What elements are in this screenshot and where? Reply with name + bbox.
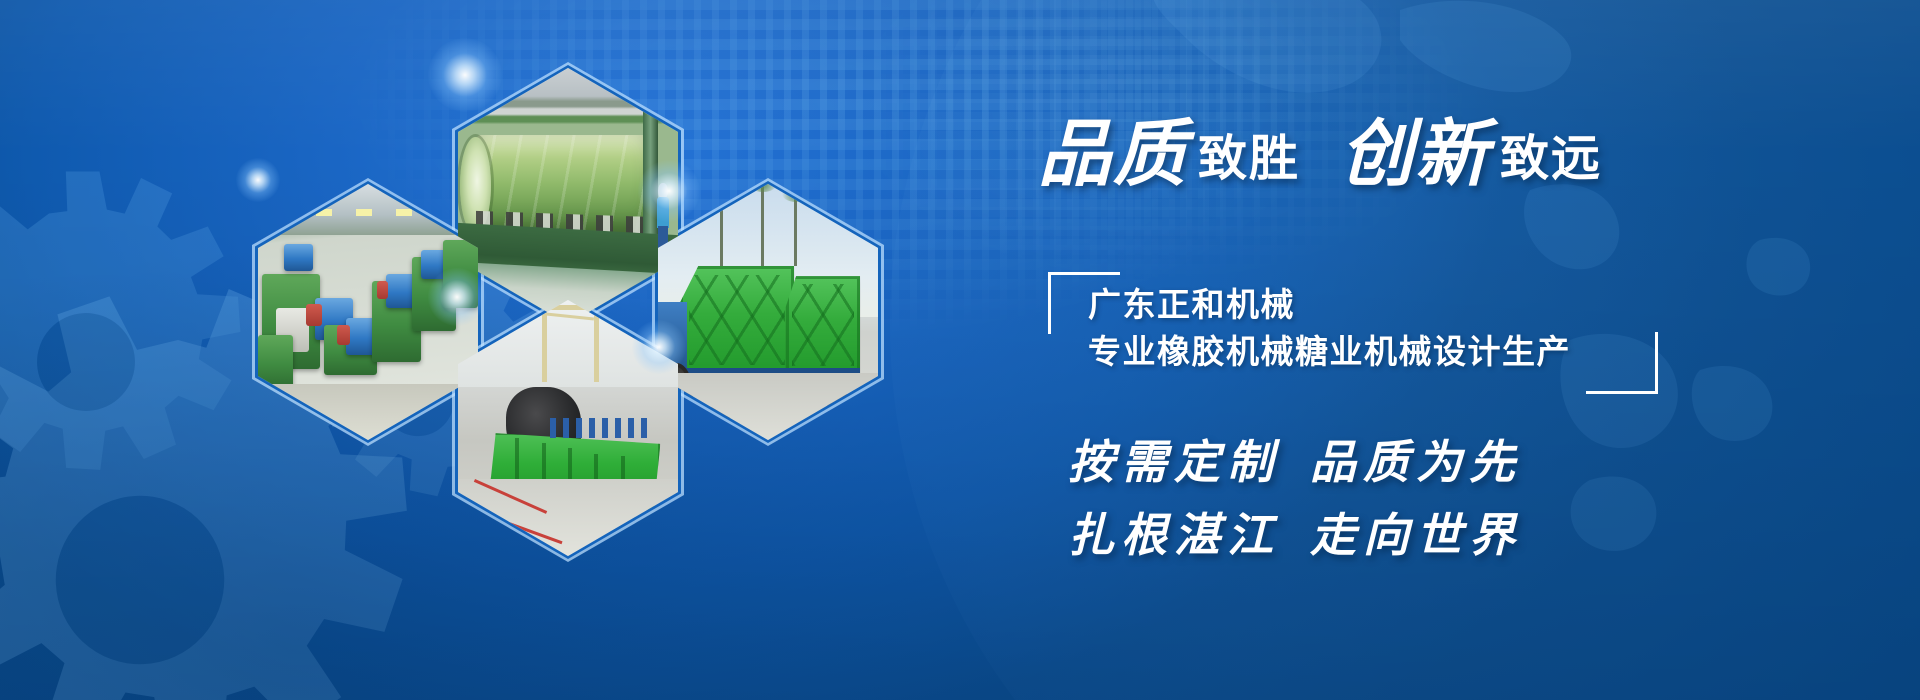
glow-accent-left-top [236, 158, 280, 202]
slogan-2-left: 扎根湛江 [1068, 508, 1280, 562]
slogan-1-left: 按需定制 [1068, 435, 1280, 489]
slogan-1-right: 品质为先 [1310, 435, 1522, 489]
subtitle-line-1: 广东正和机械 [1088, 282, 1571, 329]
glow-accent-top-left [428, 38, 502, 112]
slogan-row-1: 按需定制品质为先 [1068, 426, 1522, 499]
subtitle-line-2: 专业橡胶机械糖业机械设计生产 [1088, 329, 1571, 376]
bracket-bottom-right-icon [1586, 332, 1658, 394]
headline-part1-small: 致胜 [1198, 132, 1300, 186]
banner-copy-block: 品质致胜创新致远 广东正和机械 专业橡胶机械糖业机械设计生产 按需定制品质为先 … [1020, 96, 1860, 636]
headline: 品质致胜创新致远 [1038, 118, 1608, 191]
hexagon-photo-cluster [0, 0, 900, 700]
promo-banner: 品质致胜创新致远 广东正和机械 专业橡胶机械糖业机械设计生产 按需定制品质为先 … [0, 0, 1920, 700]
hexagon-photo-top-drum-machine[interactable] [458, 68, 678, 324]
subtitle-block: 广东正和机械 专业橡胶机械糖业机械设计生产 [1038, 272, 1658, 394]
hexagon-photo-right-green-trailer[interactable] [658, 184, 878, 440]
headline-part2-small: 致远 [1500, 132, 1602, 186]
hexagon-photo-bottom-conveyor[interactable] [458, 300, 678, 556]
headline-part2-big: 创新 [1340, 111, 1490, 197]
headline-part1-big: 品质 [1038, 111, 1188, 197]
slogan-block: 按需定制品质为先 扎根湛江走向世界 [1068, 426, 1522, 571]
slogan-row-2: 扎根湛江走向世界 [1068, 499, 1522, 572]
hexagon-photo-left-production-line[interactable] [258, 184, 478, 440]
slogan-2-right: 走向世界 [1310, 508, 1522, 562]
